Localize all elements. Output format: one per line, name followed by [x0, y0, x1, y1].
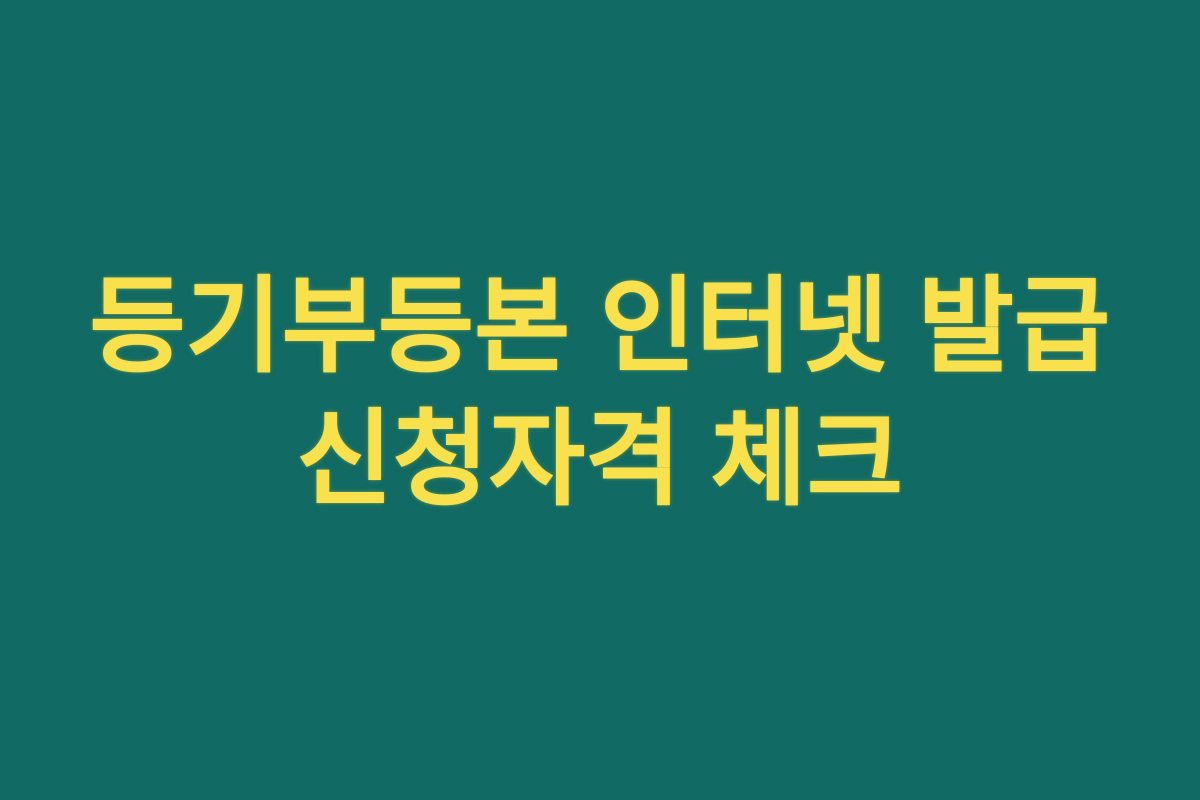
thumbnail-canvas: 등기부등본 인터넷 발급 신청자격 체크 — [0, 0, 1200, 800]
title-line-1: 등기부등본 인터넷 발급 — [0, 261, 1200, 394]
title-line-2: 신청자격 체크 — [0, 394, 1200, 527]
title-block: 등기부등본 인터넷 발급 신청자격 체크 — [0, 261, 1200, 527]
